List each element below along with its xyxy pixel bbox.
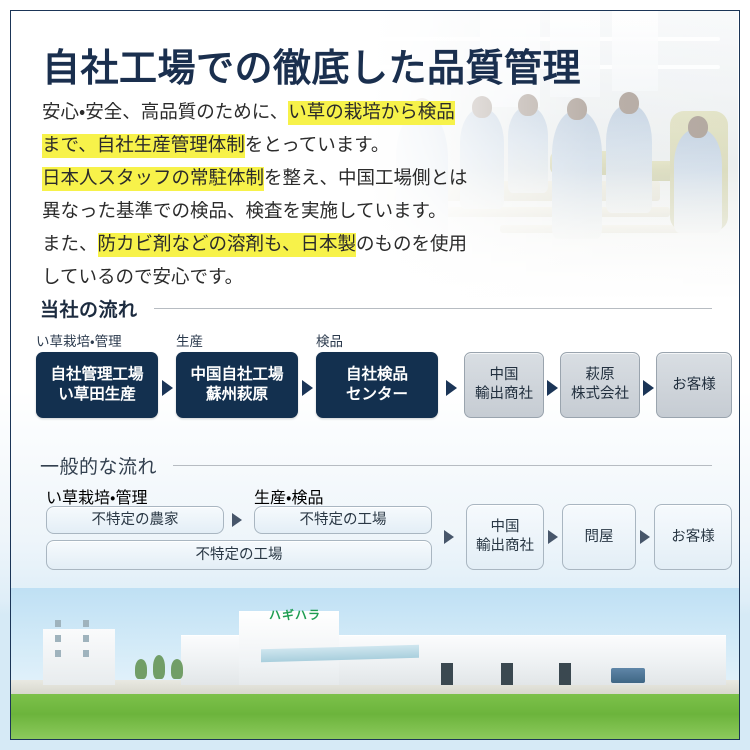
highlighted-text: 日本人スタッフの常駐体制 <box>42 167 264 191</box>
heading-rule <box>154 308 712 309</box>
own-flow-step-line: 自社検品 <box>346 365 408 385</box>
body-text-run: しているので安心です。 <box>42 267 243 288</box>
own-flow-step: 中国輸出商社 <box>464 330 544 418</box>
own-flow-step-box: 自社管理工場い草田生産 <box>36 352 158 418</box>
own-flow-step-box: 自社検品センター <box>316 352 438 418</box>
own-flow-step-caption: 検品 <box>316 330 438 352</box>
general-flow-caption: い草栽培・管理 <box>46 484 224 508</box>
factory-photo: ハギハラ <box>11 588 739 739</box>
office-building <box>43 629 115 685</box>
flow-arrow-icon <box>643 380 654 396</box>
highlighted-text: まで、自社生産管理体制 <box>42 134 245 158</box>
own-flow-step-line: お客様 <box>672 376 716 395</box>
flow-arrow-icon <box>547 380 558 396</box>
general-flow-tail-line: 中国 <box>491 518 520 537</box>
general-flow-wide-box: 不特定の工場 <box>46 540 432 570</box>
window <box>83 650 89 657</box>
own-flow-step-line: 中国 <box>490 366 519 385</box>
general-flow-caption: 生産・検品 <box>254 484 432 508</box>
own-flow-step-line: 萩原 <box>586 366 615 385</box>
flow-arrow-icon <box>446 380 457 396</box>
window <box>55 620 61 627</box>
flow-arrow-icon <box>162 380 173 396</box>
body-paragraph: 安心・安全、高品質のために、い草の栽培から検品まで、自社生産管理体制をとっていま… <box>42 96 512 294</box>
body-line: しているので安心です。 <box>42 261 512 294</box>
own-flow-step-caption <box>656 330 732 352</box>
general-flow-tail-line: 問屋 <box>585 528 614 547</box>
body-line: 異なった基準での検品、検査を実施しています。 <box>42 195 512 228</box>
own-flow-step-line: い草田生産 <box>58 385 136 405</box>
general-flow-diagram: い草栽培・管理生産・検品不特定の農家不特定の工場不特定の工場中国輸出商社問屋お客… <box>36 484 726 580</box>
window <box>83 635 89 642</box>
grass-field <box>11 694 739 739</box>
general-flow-tail-box: お客様 <box>654 504 732 570</box>
body-line: また、防カビ剤などの溶剤も、日本製のものを使用 <box>42 228 512 261</box>
tree <box>135 659 147 679</box>
own-flow-step-box: 萩原株式会社 <box>560 352 640 418</box>
own-flow-step-box: 中国輸出商社 <box>464 352 544 418</box>
general-flow-box: 不特定の農家 <box>46 506 224 534</box>
general-flow-tail-box: 問屋 <box>562 504 636 570</box>
page-title: 自社工場での徹底した品質管理 <box>42 37 581 92</box>
general-flow-heading-label: 一般的な流れ <box>40 452 157 479</box>
highlighted-text: い草の栽培から検品 <box>288 101 455 125</box>
general-flow-heading: 一般的な流れ <box>40 452 712 479</box>
body-text-run: を整え、中国工場側とは <box>264 168 468 189</box>
own-flow-step: 萩原株式会社 <box>560 330 640 418</box>
heading-rule <box>173 465 712 466</box>
own-flow-diagram: い草栽培・管理自社管理工場い草田生産生産中国自社工場蘇州萩原検品自社検品センター… <box>36 330 726 425</box>
own-flow-step-line: 株式会社 <box>571 385 629 404</box>
own-flow-step-box: 中国自社工場蘇州萩原 <box>176 352 298 418</box>
flow-arrow-icon <box>302 380 313 396</box>
body-text-run: また、 <box>42 234 98 255</box>
own-flow-step-line: 輸出商社 <box>475 385 533 404</box>
highlighted-text: 防カビ剤などの溶剤も、日本製 <box>98 233 356 257</box>
general-flow-box: 不特定の工場 <box>254 506 432 534</box>
body-text-run: 異なった基準での検品、検査を実施しています。 <box>42 201 447 222</box>
own-flow-step-line: センター <box>346 385 408 405</box>
own-flow-step: 生産中国自社工場蘇州萩原 <box>176 330 298 418</box>
truck <box>611 668 645 683</box>
window <box>55 635 61 642</box>
own-flow-heading-label: 当社の流れ <box>40 295 138 322</box>
body-line: まで、自社生産管理体制をとっています。 <box>42 129 512 162</box>
loading-door <box>501 663 513 685</box>
own-flow-step: お客様 <box>656 330 732 418</box>
window <box>55 650 61 657</box>
own-flow-step: 検品自社検品センター <box>316 330 438 418</box>
own-flow-step-caption <box>464 330 544 352</box>
factory-sign: ハギハラ <box>269 606 321 623</box>
body-line: 安心・安全、高品質のために、い草の栽培から検品 <box>42 96 512 129</box>
own-flow-step-line: 自社管理工場 <box>50 365 143 385</box>
loading-door <box>441 663 453 685</box>
own-flow-step-line: 蘇州萩原 <box>206 385 268 405</box>
loading-door <box>559 663 571 685</box>
body-text-run: のものを使用 <box>356 234 467 255</box>
own-flow-step: い草栽培・管理自社管理工場い草田生産 <box>36 330 158 418</box>
infographic-page: 自社工場での徹底した品質管理 安心・安全、高品質のために、い草の栽培から検品まで… <box>0 0 750 750</box>
own-flow-step-caption: い草栽培・管理 <box>36 330 158 352</box>
flow-arrow-icon <box>548 530 558 544</box>
flow-arrow-icon <box>640 530 650 544</box>
general-flow-tail-line: お客様 <box>671 528 715 547</box>
general-flow-tail-box: 中国輸出商社 <box>466 504 544 570</box>
tree <box>171 659 183 679</box>
flow-arrow-icon <box>232 513 242 527</box>
own-flow-step-caption <box>560 330 640 352</box>
body-text-run: をとっています。 <box>245 135 390 156</box>
window <box>83 620 89 627</box>
body-text-run: 安心・安全、高品質のために、 <box>42 102 288 123</box>
own-flow-step-caption: 生産 <box>176 330 298 352</box>
own-flow-step-box: お客様 <box>656 352 732 418</box>
tree <box>153 655 165 679</box>
own-flow-heading: 当社の流れ <box>40 295 712 322</box>
body-line: 日本人スタッフの常駐体制を整え、中国工場側とは <box>42 162 512 195</box>
own-flow-step-line: 中国自社工場 <box>190 365 283 385</box>
general-flow-tail-line: 輸出商社 <box>476 537 534 556</box>
flow-arrow-icon <box>444 530 454 544</box>
